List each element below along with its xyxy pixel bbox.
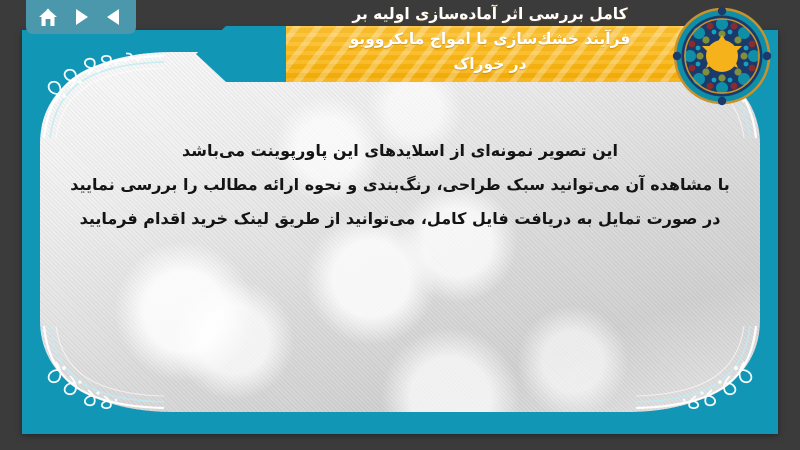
body-line-2: با مشاهده آن می‌توانید سبک طراحی، رنگ‌بن… <box>44 168 756 202</box>
body-line-3: در صورت تمایل به دریافت فایل کامل، می‌تو… <box>44 202 756 236</box>
home-button[interactable] <box>35 5 61 29</box>
slide-body-text: این تصویر نمونه‌ای از اسلایدهای این پاور… <box>44 134 756 236</box>
triangle-left-icon <box>105 8 122 26</box>
body-line-1: این تصویر نمونه‌ای از اسلایدهای این پاور… <box>44 134 756 168</box>
previous-slide-button[interactable] <box>101 5 127 29</box>
title-band <box>272 26 732 82</box>
slide-stage: کامل بررسی اثر آماده‌سازی اولیه بر فرآین… <box>0 0 800 450</box>
title-line-1: کامل بررسی اثر آماده‌سازی اولیه بر <box>268 2 712 27</box>
title-ribbon-arrow <box>196 26 286 82</box>
persian-medallion-ornament <box>668 2 776 110</box>
home-icon <box>38 8 58 27</box>
slide-navigation-bar <box>26 0 136 34</box>
triangle-right-icon <box>73 8 90 26</box>
next-slide-button[interactable] <box>68 5 94 29</box>
